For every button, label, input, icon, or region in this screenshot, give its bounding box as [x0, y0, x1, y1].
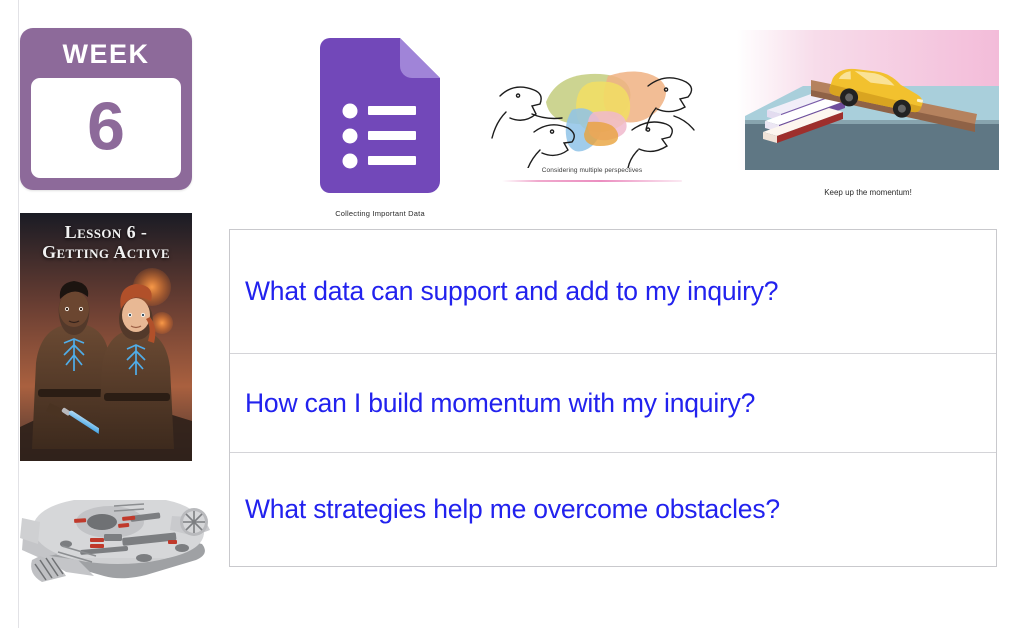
perspectives-caption: Considering multiple perspectives [488, 167, 696, 174]
slide-canvas: WEEK 6 Collecting Important Data [0, 0, 1024, 628]
week-badge-number: 6 [31, 93, 181, 161]
week-badge-label: WEEK [20, 39, 192, 70]
multiple-perspectives-illustration [488, 60, 696, 168]
lesson-poster-title-line1: Lesson 6 - [65, 222, 148, 242]
perspectives-underline [502, 180, 682, 182]
question-text: What strategies help me overcome obstacl… [245, 494, 780, 524]
momentum-caption: Keep up the momentum! [737, 188, 999, 197]
table-row[interactable]: How can I build momentum with my inquiry… [230, 354, 996, 453]
google-forms-icon [320, 38, 440, 193]
inquiry-question-table: What data can support and add to my inqu… [229, 229, 997, 567]
car-ramp-momentum-illustration [737, 30, 999, 170]
collecting-data-caption: Collecting Important Data [300, 209, 460, 218]
week-badge-sheet: 6 [31, 78, 181, 178]
question-text: What data can support and add to my inqu… [245, 276, 778, 306]
question-text: How can I build momentum with my inquiry… [245, 388, 755, 418]
table-row[interactable]: What strategies help me overcome obstacl… [230, 453, 996, 566]
momentum-card: Keep up the momentum! [737, 30, 999, 198]
millennium-falcon-icon [18, 478, 214, 583]
lesson-poster-title-line2: Getting Active [42, 242, 170, 262]
perspectives-card: Considering multiple perspectives [488, 60, 696, 188]
collecting-data-card: Collecting Important Data [300, 38, 460, 218]
table-row[interactable]: What data can support and add to my inqu… [230, 230, 996, 354]
lesson-poster-title: Lesson 6 - Getting Active [20, 222, 192, 262]
lesson-poster: Lesson 6 - Getting Active [20, 213, 192, 461]
week-badge: WEEK 6 [20, 28, 192, 190]
